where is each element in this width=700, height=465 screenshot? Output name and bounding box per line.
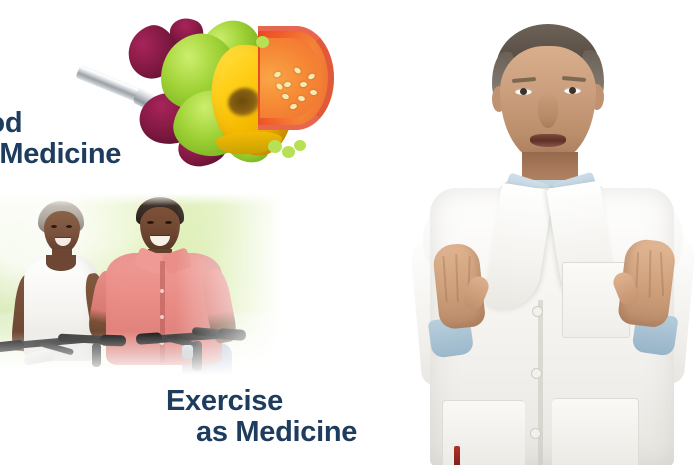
food-as-medicine-headline: ood as Medicine (0, 108, 121, 171)
bicycle-stem (92, 343, 101, 367)
lettuce-frill (294, 140, 306, 151)
woman-eye (66, 225, 72, 228)
lab-coat-button (530, 428, 541, 439)
bicycle-grip (100, 335, 126, 347)
pocket-pen (454, 446, 460, 465)
doctor-pupil (569, 87, 576, 94)
woman-eye (51, 225, 57, 228)
man-eye (147, 221, 154, 224)
tomato-slice (258, 26, 334, 130)
doctor-speaking-photo (400, 0, 700, 465)
bicycle-grip (136, 332, 163, 345)
food-headline-line-2: as Medicine (0, 139, 121, 170)
senior-couple-on-bicycles-photo (0, 193, 286, 375)
woman-neckline (46, 255, 76, 271)
exercise-as-medicine-headline: Exercise as Medicine (166, 386, 357, 449)
lettuce-frill (268, 140, 282, 153)
lab-coat-lower-pocket (552, 398, 639, 465)
doctor-neck-shadow (522, 152, 578, 178)
lettuce-frill (282, 146, 295, 158)
doctor-pupil (520, 88, 527, 95)
bicycle-grip (218, 328, 247, 341)
doctor-nose (538, 92, 558, 128)
bicycle-bell (182, 345, 193, 359)
man-shirt-button (160, 289, 164, 293)
lettuce-frill (256, 36, 269, 48)
food-headline-line-1: ood (0, 108, 121, 139)
doctor-mouth (530, 134, 566, 147)
lab-coat-button (532, 306, 543, 317)
lab-coat-placket (538, 300, 543, 465)
exercise-headline-line-1: Exercise (166, 386, 357, 417)
man-shirt-button (160, 315, 164, 319)
tomato-skin-rim (258, 26, 334, 130)
man-shirt-placket (160, 261, 165, 363)
exercise-headline-line-2: as Medicine (196, 417, 357, 448)
presentation-slide: ood as Medicine (0, 0, 700, 465)
man-eye (165, 221, 172, 224)
lab-coat-button (531, 368, 542, 379)
